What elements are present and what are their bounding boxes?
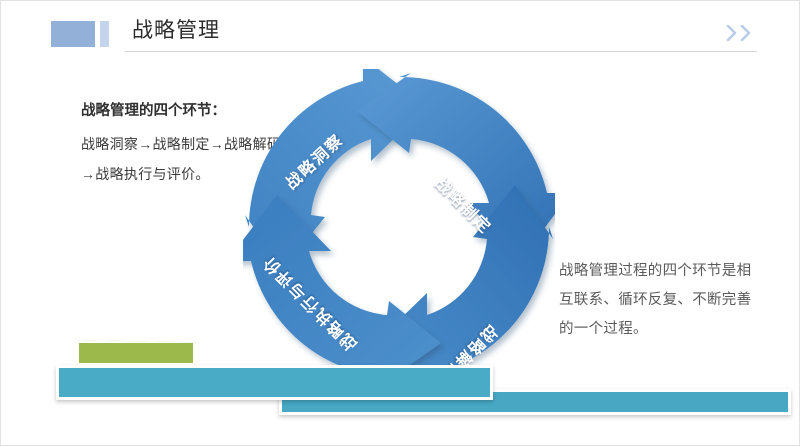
four-stage-cycle-diagram: 战略洞察 战略制定 战略解码 战略执行与评价 xyxy=(243,69,555,387)
header-nav-icons xyxy=(726,25,751,41)
header-divider xyxy=(125,51,757,52)
right-body-text: 战略管理过程的四个环节是相互联系、循环反复、不断完善的一个过程。 xyxy=(559,257,757,344)
teal-bar-front xyxy=(56,365,493,400)
header-accent-block xyxy=(51,21,95,47)
cycle-arrow-stage-4 xyxy=(243,195,441,381)
slide-canvas: 战略管理 战略管理的四个环节： 战略洞察→战略制定→战略解码→战略执行与评价。 … xyxy=(0,0,800,446)
green-bar xyxy=(76,340,196,366)
header-accent-block-small xyxy=(100,21,109,47)
chevron-right-icon-2[interactable] xyxy=(740,25,751,41)
chevron-right-icon-1[interactable] xyxy=(726,25,737,41)
page-title: 战略管理 xyxy=(132,17,220,45)
cycle-arrows-svg xyxy=(243,69,555,387)
